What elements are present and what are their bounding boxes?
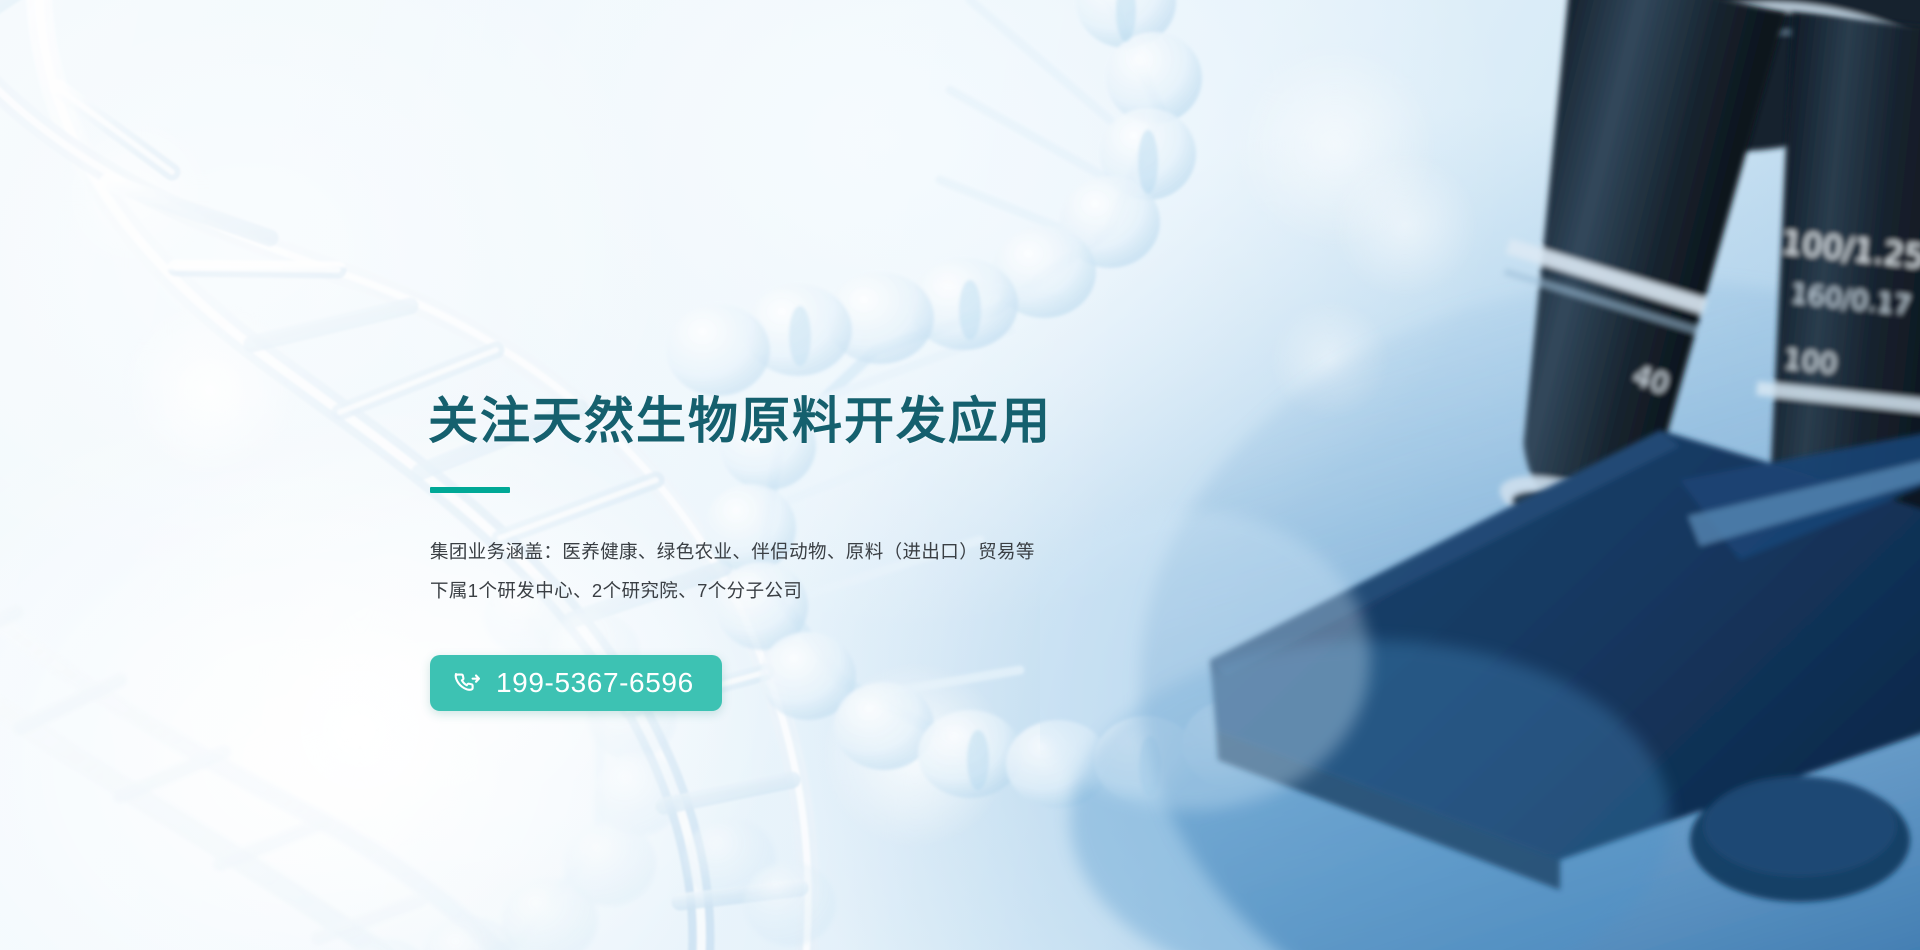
hero-banner: 40 100/1.25 160/0.17 100 [0, 0, 1920, 950]
hero-copy-block: 关注天然生物原料开发应用 集团业务涵盖：医养健康、绿色农业、伴侣动物、原料（进出… [428, 392, 1208, 711]
page-title: 关注天然生物原料开发应用 [428, 392, 1208, 451]
bokeh-light [1330, 150, 1480, 300]
svg-text:40: 40 [1629, 359, 1673, 401]
phone-forward-icon [452, 668, 482, 698]
phone-cta-button[interactable]: 199-5367-6596 [430, 655, 722, 711]
title-divider [430, 487, 510, 493]
svg-text:100/1.25: 100/1.25 [1780, 223, 1920, 276]
svg-text:100: 100 [1782, 342, 1839, 380]
hero-description-line-1: 集团业务涵盖：医养健康、绿色农业、伴侣动物、原料（进出口）贸易等 [430, 533, 1208, 572]
bokeh-light [120, 300, 300, 480]
hero-description-line-2: 下属1个研发中心、2个研究院、7个分子公司 [430, 572, 1208, 611]
hero-description: 集团业务涵盖：医养健康、绿色农业、伴侣动物、原料（进出口）贸易等 下属1个研发中… [430, 533, 1208, 611]
svg-text:160/0.17: 160/0.17 [1789, 278, 1912, 321]
bokeh-light [1270, 300, 1390, 420]
bokeh-light [60, 120, 210, 270]
bokeh-light [1230, 40, 1440, 250]
phone-number-label: 199-5367-6596 [496, 669, 694, 697]
